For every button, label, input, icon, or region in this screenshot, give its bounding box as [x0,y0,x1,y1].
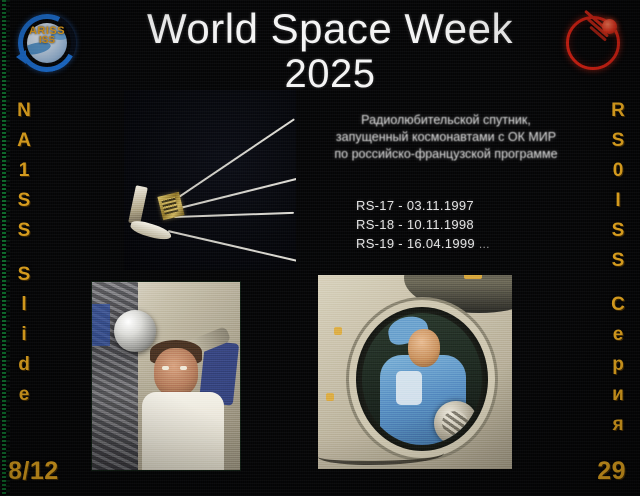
callsign-char: S [598,246,638,276]
callsign-char: S [4,186,44,216]
sstv-image-frame: ARISS ISS World Space Week 2025 N A 1 S … [0,0,640,496]
hatch-interior [362,313,482,445]
launch-separator: - [398,217,403,232]
launch-date: 03.11.1997 [407,198,474,213]
callsign-char: S [598,126,638,156]
spacer [4,246,44,260]
photo-noise-overlay [124,90,296,270]
sidebar-left: N A 1 S S S l i d e [4,96,44,410]
ariss-logo-sub: ISS [18,36,76,46]
callsign-char: S [598,216,638,246]
satellite-foot [129,218,173,242]
launch-list: RS-17 - 03.11.1997 RS-18 - 10.11.1998 RS… [356,196,566,254]
launch-trailing: ... [479,237,490,251]
blue-panel [92,304,110,346]
russian-caption: Радиолюбительской спутник, запущенный ко… [300,112,592,163]
series-label-char: я [598,410,638,440]
comet-head-icon [602,19,617,34]
satellite-photo [124,90,296,270]
spacer [598,276,638,290]
cosmonaut-torso [142,392,224,470]
callsign-char: A [4,126,44,156]
antenna-boom [168,230,296,263]
launch-name: RS-17 [356,198,394,213]
callsign-char: N [4,96,44,126]
antenna-boom [174,212,294,218]
launch-separator: - [398,236,403,251]
slide-counter-left: 8/12 [8,457,59,486]
slide-label-char: l [4,290,44,320]
launch-name: RS-19 [356,236,394,251]
callsign-char: S [4,216,44,246]
cosmonaut-eye [162,366,169,370]
cosmonaut-photo-right [318,275,512,469]
callsign-char: 0 [598,156,638,186]
launch-row: RS-18 - 10.11.1998 [356,215,566,234]
ariss-logo-text: ARISS ISS [18,26,76,46]
sidebar-right: R S 0 I S S С е р и я [598,96,638,440]
title-year: 2025 [120,52,540,96]
module-marker [334,327,342,335]
slide-label-char: S [4,260,44,290]
circular-hatch [356,307,488,451]
antenna-boom [176,177,296,210]
spherical-satellite [114,310,156,352]
callsign-char: 1 [4,156,44,186]
module-marker [326,393,334,401]
sync-stripe-left-secondary [6,0,10,496]
slide-label-char: d [4,350,44,380]
series-label-char: С [598,290,638,320]
ariss-arrow-icon [16,50,26,64]
launch-name: RS-18 [356,217,394,232]
cosmonaut-eye [180,366,187,370]
caption-line-1: Радиолюбительской спутник, [300,112,592,129]
slide-label-char: e [4,380,44,410]
launch-date: 10.11.1998 [407,217,474,232]
rs0iss-comet-logo [564,14,622,72]
cosmonaut-head [154,348,198,396]
launch-row: RS-19 - 16.04.1999 ... [356,234,566,254]
launch-date: 16.04.1999 [407,236,475,251]
slide-label-char: i [4,320,44,350]
handheld-satellite [434,401,478,445]
cosmonaut-photo-left [91,281,241,471]
caption-line-2: запущенный космонавтами с ОК МИР [300,129,592,146]
series-label-char: е [598,320,638,350]
antenna-boom [169,118,294,204]
ariss-logo: ARISS ISS [18,14,76,72]
page-title: World Space Week 2025 [120,8,540,96]
caption-line-3: по российско-французской программе [300,146,592,163]
title-line-1: World Space Week [147,5,513,52]
callsign-char: I [598,186,638,216]
series-label-char: р [598,350,638,380]
launch-row: RS-17 - 03.11.1997 [356,196,566,215]
callsign-char: R [598,96,638,126]
suit-patch [396,371,422,405]
series-label-char: и [598,380,638,410]
series-number-right: 29 [597,457,626,486]
launch-separator: - [398,198,403,213]
cable-bundle [318,445,444,465]
satellite-arm [128,185,148,225]
cosmonaut-face [408,329,440,367]
